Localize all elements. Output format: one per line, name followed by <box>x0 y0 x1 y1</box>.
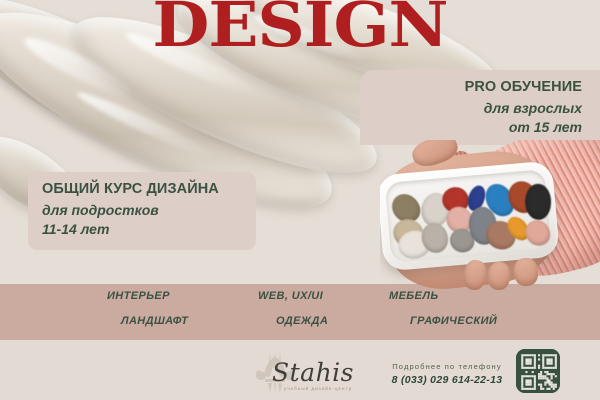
pro-course-audience: для взрослых <box>360 96 600 116</box>
pro-course-age: от 15 лет <box>360 116 600 135</box>
general-course-age: 11-14 лет <box>28 218 256 237</box>
category-clothing: ОДЕЖДА <box>276 315 328 327</box>
phone-number[interactable]: 8 (033) 029 614-22-13 <box>384 374 510 386</box>
pro-course-panel: PRO ОБУЧЕНИЕ для взрослых от 15 лет <box>360 70 600 145</box>
page-title: DESIGN <box>0 0 600 56</box>
poster-canvas: DESIGN PRO ОБУЧЕНИЕ для взрослых от 15 л… <box>0 0 600 400</box>
category-list: ИНТЕРЬЕР WEB, UX/UI МЕБЕЛЬ ЛАНДШАФТ ОДЕЖ… <box>0 284 600 340</box>
category-furniture: МЕБЕЛЬ <box>389 290 439 302</box>
brand-tagline: учебный дизайн-центр <box>284 386 352 391</box>
category-graphic: ГРАФИЧЕСКИЙ <box>410 315 497 327</box>
paint-palette-tray <box>380 161 560 272</box>
general-course-heading: ОБЩИЙ КУРС ДИЗАЙНА <box>28 172 256 198</box>
contact-block: Подробнее по телефону 8 (033) 029 614-22… <box>384 362 510 386</box>
brand-name: Stahis <box>272 358 354 387</box>
general-course-panel: ОБЩИЙ КУРС ДИЗАЙНА для подростков 11-14 … <box>28 172 256 250</box>
category-interior: ИНТЕРЬЕР <box>107 290 170 302</box>
qr-code-icon <box>516 349 560 393</box>
brand-logo: Stahis учебный дизайн-центр <box>244 350 360 396</box>
category-web-uxui: WEB, UX/UI <box>258 290 323 302</box>
phone-label: Подробнее по телефону <box>384 362 510 371</box>
general-course-audience: для подростков <box>28 198 256 218</box>
finger-3 <box>513 257 539 287</box>
hand-with-palette-photo <box>380 140 600 308</box>
category-landscape: ЛАНДШАФТ <box>121 315 188 327</box>
qr-code[interactable] <box>516 349 560 393</box>
pro-course-heading: PRO ОБУЧЕНИЕ <box>360 70 600 96</box>
